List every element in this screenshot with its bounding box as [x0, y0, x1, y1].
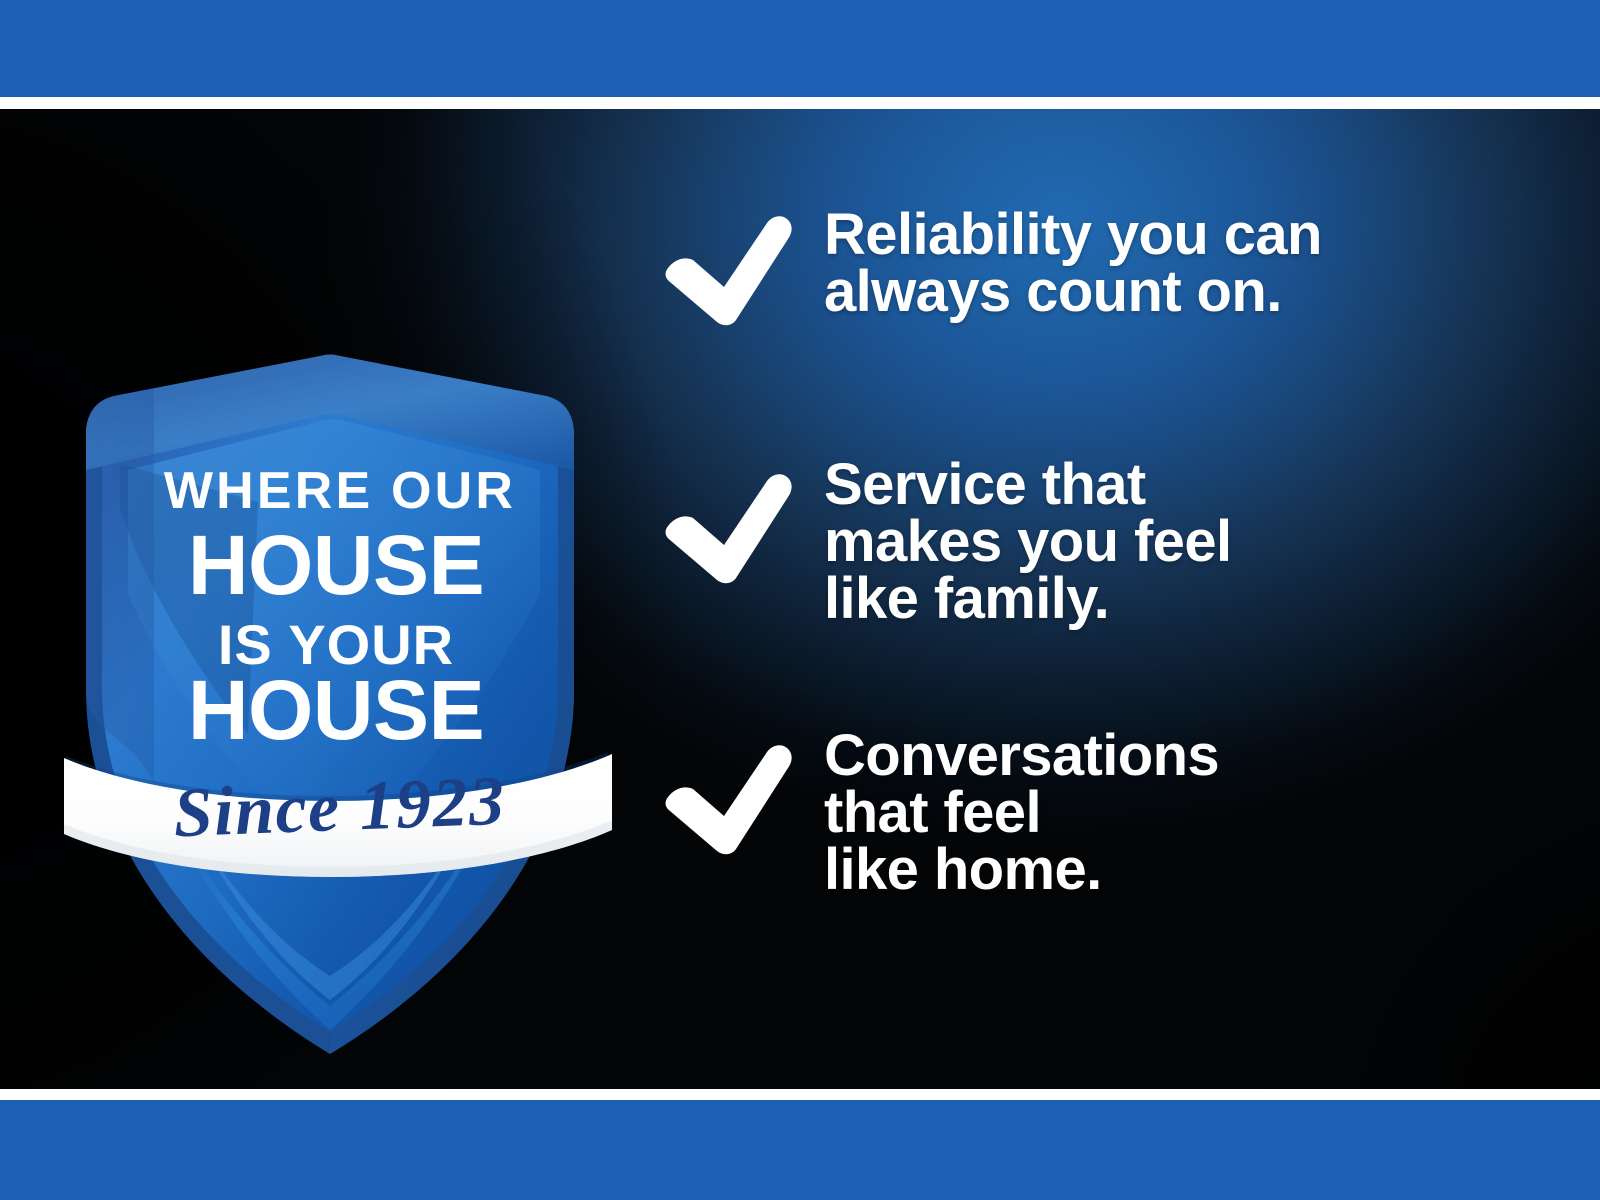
shield-line-4: HOUSE	[188, 663, 484, 757]
shield-emblem: WHERE OUR HOUSE IS YOUR HOUSE Since 1923	[58, 264, 618, 1054]
benefit-text: Service that makes you feel like family.	[824, 456, 1560, 627]
shield-line-2: HOUSE	[188, 518, 484, 612]
checkmark-icon	[660, 468, 800, 588]
shield-line-1: WHERE OUR	[164, 462, 516, 520]
checkmark-icon	[660, 210, 800, 330]
benefit-text: Conversations that feel like home.	[824, 727, 1560, 898]
benefit-item: Reliability you can always count on.	[660, 204, 1560, 330]
benefit-item: Conversations that feel like home.	[660, 725, 1560, 898]
shield-wordmark: WHERE OUR HOUSE IS YOUR HOUSE	[164, 462, 516, 757]
top-band-divider	[0, 97, 1600, 109]
benefit-item: Service that makes you feel like family.	[660, 454, 1560, 627]
benefits-list: Reliability you can always count on. Ser…	[660, 204, 1560, 898]
bottom-brand-band	[0, 1100, 1600, 1200]
ribbon-text: Since 1923	[172, 763, 507, 853]
bottom-band-divider	[0, 1089, 1600, 1100]
benefit-text: Reliability you can always count on.	[824, 206, 1560, 320]
checkmark-icon	[660, 739, 800, 859]
promo-graphic: WHERE OUR HOUSE IS YOUR HOUSE Since 1923	[0, 0, 1600, 1200]
artboard: WHERE OUR HOUSE IS YOUR HOUSE Since 1923	[0, 109, 1600, 1089]
top-brand-band	[0, 0, 1600, 97]
